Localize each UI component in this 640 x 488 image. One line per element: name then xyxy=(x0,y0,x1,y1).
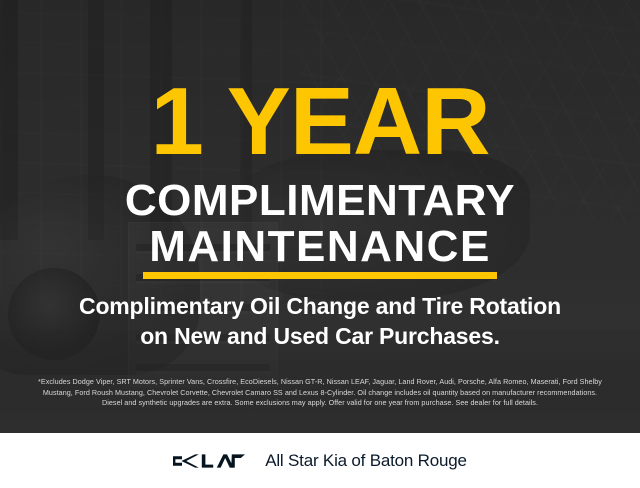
offer-description-line-1: Complimentary Oil Change and Tire Rotati… xyxy=(0,291,640,321)
kia-logo xyxy=(173,450,245,472)
offer-description: Complimentary Oil Change and Tire Rotati… xyxy=(0,291,640,351)
yellow-divider-bar xyxy=(143,272,497,279)
footer-bar: All Star Kia of Baton Rouge xyxy=(0,433,640,488)
disclaimer-fineprint: *Excludes Dodge Viper, SRT Motors, Sprin… xyxy=(14,377,626,409)
subheadline-line-1: COMPLIMENTARY xyxy=(0,178,640,224)
promotional-banner: 1 YEAR COMPLIMENTARY MAINTENANCE Complim… xyxy=(0,0,640,488)
disclaimer-line-2: Mustang, Ford Roush Mustang, Chevrolet C… xyxy=(14,388,626,399)
disclaimer-line-1: *Excludes Dodge Viper, SRT Motors, Sprin… xyxy=(14,377,626,388)
disclaimer-line-3: Diesel and synthetic upgrades are extra.… xyxy=(14,398,626,409)
dealer-name: All Star Kia of Baton Rouge xyxy=(265,451,467,471)
subheadline-line-2: MAINTENANCE xyxy=(0,224,640,270)
banner-content: 1 YEAR COMPLIMENTARY MAINTENANCE Complim… xyxy=(0,0,640,433)
offer-description-line-2: on New and Used Car Purchases. xyxy=(0,321,640,351)
headline-1-year: 1 YEAR xyxy=(0,74,640,170)
subheadline: COMPLIMENTARY MAINTENANCE xyxy=(0,178,640,270)
